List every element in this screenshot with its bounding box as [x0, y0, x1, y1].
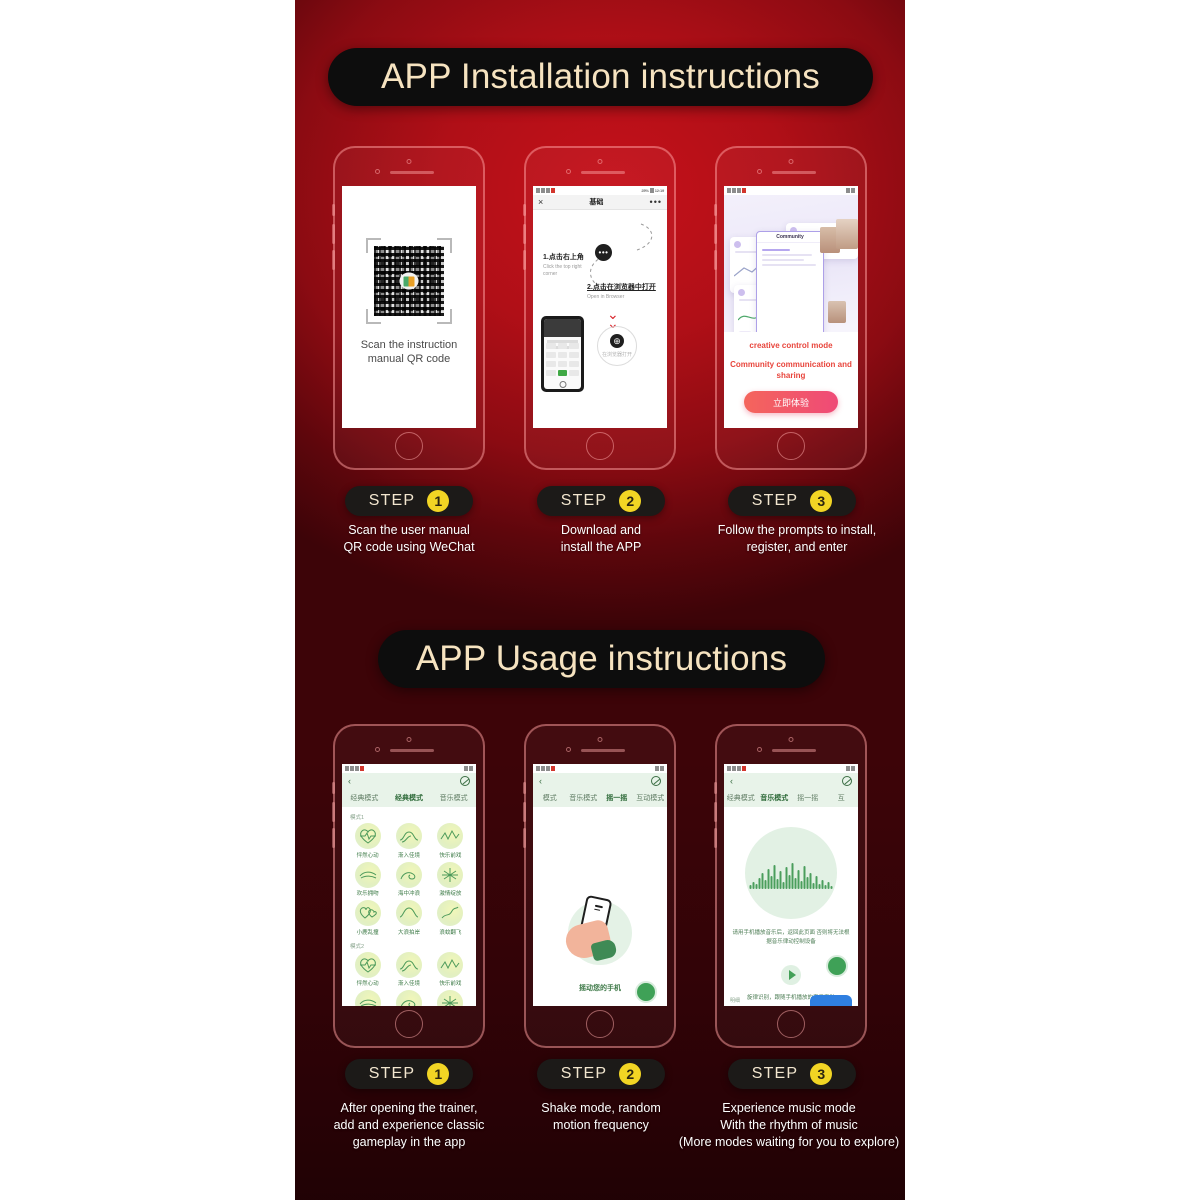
volume-down-icon — [523, 828, 526, 848]
app-navbar: ‹ — [342, 773, 476, 789]
mode-group-1-label: 模式1 — [350, 813, 476, 821]
tutorial-step-2: 2.点击在浏览器中打开 Open in Browser — [587, 282, 656, 300]
tutorial-step-1: 1.点击右上角 Click the top right corner — [543, 252, 591, 278]
mode-group-2-label: 模式2 — [350, 942, 476, 950]
home-button-icon[interactable] — [777, 432, 805, 460]
status-left-icons — [727, 188, 746, 193]
mode-label: 欢乐拥吻 — [347, 889, 388, 897]
music-hint-1: 请用手机播放音乐后，返回此页面 否则将无法根据音乐律动控制设备 — [730, 929, 852, 947]
camera-dot-icon — [598, 159, 603, 164]
open-in-browser-label: 在浏览器打开 — [602, 351, 632, 358]
splash-icon — [437, 900, 463, 926]
step-badge-install-1: STEP 1 — [345, 486, 473, 516]
webview-title: 基础 — [589, 197, 603, 207]
volume-up-icon — [332, 224, 335, 244]
mode-item[interactable]: 大浪拍岸 — [388, 900, 429, 936]
status-right-icons — [655, 766, 664, 771]
detail-label: 明细 — [730, 997, 740, 1004]
volume-down-icon — [332, 250, 335, 270]
step-badge-usage-2: STEP 2 — [537, 1059, 665, 1089]
page-root: APP Installation instructions — [0, 0, 1200, 1200]
step-number: 2 — [619, 490, 641, 512]
step-caption-install-1: Scan the user manual QR code using WeCha… — [309, 522, 509, 556]
volume-down-icon — [714, 828, 717, 848]
step-caption-usage-3: Experience music mode With the rhythm of… — [673, 1100, 905, 1151]
step-badge-install-2: STEP 2 — [537, 486, 665, 516]
sensor-dot-icon — [566, 747, 571, 752]
red-content-panel: APP Installation instructions — [295, 0, 905, 1200]
sensor-dot-icon — [566, 169, 571, 174]
qr-scan-frame — [366, 238, 452, 324]
music-body: 请用手机播放音乐后，返回此页面 否则将无法根据音乐律动控制设备 旋律识别，跟随手… — [724, 807, 858, 1006]
camera-dot-icon — [407, 159, 412, 164]
big-wave-icon — [396, 900, 422, 926]
section-title-usage-text: APP Usage instructions — [390, 639, 813, 679]
mode-tabs: 经典模式 音乐模式 摇一摇 互 — [724, 789, 858, 807]
step-badge-install-3: STEP 3 — [728, 486, 856, 516]
step-caption-usage-1: After opening the trainer, add and exper… — [309, 1100, 509, 1151]
mini-phone-illustration — [541, 316, 584, 392]
promo-tagline-1: creative control mode — [724, 341, 858, 350]
mode-tabs: 模式 音乐模式 摇一摇 互动模式 — [533, 789, 667, 807]
camera-dot-icon — [789, 737, 794, 742]
kiss-icon — [355, 990, 381, 1006]
step-number: 1 — [427, 1063, 449, 1085]
phone-mockup-qr: Scan the instruction manual QR code — [333, 146, 485, 470]
qr-center-logo-icon — [400, 273, 419, 290]
step-number: 3 — [810, 490, 832, 512]
mode-item[interactable]: 小鹿乱撞 — [347, 900, 388, 936]
mode-label: 浪蚊翻飞 — [430, 928, 471, 936]
status-right-icons: 25% 12:19 — [641, 188, 664, 193]
section-title-usage: APP Usage instructions — [378, 630, 825, 688]
settings-gear-icon[interactable] — [651, 776, 661, 786]
step-label: STEP — [369, 1065, 416, 1083]
home-button-icon[interactable] — [395, 1010, 423, 1038]
tutorial-step-1-en: Click the top right corner — [543, 264, 591, 278]
surf-wave-icon — [396, 990, 422, 1006]
bottom-action-button[interactable] — [810, 995, 852, 1006]
section-title-install-text: APP Installation instructions — [355, 57, 846, 97]
tab-partial[interactable]: 模式 — [533, 793, 567, 803]
battery-percent-label: 25% — [641, 188, 648, 193]
step-number: 1 — [427, 490, 449, 512]
mode-item[interactable]: 渐入佳境 — [388, 952, 429, 988]
camera-dot-icon — [789, 159, 794, 164]
speaker-slot-icon — [772, 171, 816, 174]
step-label: STEP — [752, 492, 799, 510]
mode-label: 海中冲浪 — [388, 889, 429, 897]
open-in-browser-illustration: ⊕ 在浏览器打开 — [597, 326, 637, 366]
tab-music[interactable]: 音乐模式 — [758, 793, 792, 803]
step-label: STEP — [561, 492, 608, 510]
mode-item[interactable]: 欢乐拥吻 — [347, 862, 388, 898]
phone-mockup-shake: ‹ 模式 音乐模式 摇一摇 互动模式 — [524, 724, 676, 1048]
volume-down-icon — [714, 250, 717, 270]
back-arrow-icon[interactable]: ‹ — [348, 777, 351, 786]
tab-interactive-partial[interactable]: 互 — [825, 793, 859, 803]
mode-label: 激情绽放 — [430, 889, 471, 897]
speaker-slot-icon — [390, 171, 434, 174]
mode-label: 快乐前戏 — [430, 979, 471, 987]
mode-grid-2: 怦然心动 渐入佳境 快乐前戏 欢乐拥吻 — [342, 952, 476, 1007]
speaker-slot-icon — [581, 749, 625, 752]
phone-screen-music: ‹ 经典模式 音乐模式 摇一摇 互 — [724, 764, 858, 1006]
mode-item[interactable]: 怦然心动 — [347, 952, 388, 988]
status-bar — [533, 764, 667, 773]
mode-item[interactable]: 快乐前戏 — [430, 952, 471, 988]
volume-up-icon — [523, 802, 526, 822]
mute-switch-icon — [332, 204, 335, 216]
status-left-icons — [345, 766, 364, 771]
status-left-icons — [536, 188, 555, 193]
globe-icon: ⊕ — [610, 334, 624, 348]
phone-mockup-wechat: 25% 12:19 × 基础 ••• ••• — [524, 146, 676, 470]
wechat-tutorial-body: ••• 1.点击右上角 Click the top right corner 2… — [533, 210, 667, 428]
mute-switch-icon — [714, 782, 717, 794]
mute-switch-icon — [714, 204, 717, 216]
zigzag-wave-icon — [437, 823, 463, 849]
motion-lines-icon — [594, 905, 603, 914]
phone-screen-promo: Community creative control mode Communit… — [724, 186, 858, 428]
mode-label: 渐入佳境 — [388, 979, 429, 987]
status-left-icons — [536, 766, 555, 771]
status-bar — [724, 764, 858, 773]
status-right-icons — [464, 766, 473, 771]
section-title-install: APP Installation instructions — [328, 48, 873, 106]
heartbeat-icon — [355, 952, 381, 978]
app-navbar: ‹ — [533, 773, 667, 789]
speaker-slot-icon — [772, 749, 816, 752]
community-title: Community — [776, 234, 804, 240]
volume-up-icon — [714, 224, 717, 244]
promo-card-community: Community — [756, 231, 824, 332]
sensor-dot-icon — [757, 747, 762, 752]
phone-mockup-modes: ‹ 经典模式 经典模式 音乐模式 模式1 怦然心动 — [333, 724, 485, 1048]
tab-music[interactable]: 音乐模式 — [431, 793, 476, 803]
mode-label: 大浪拍岸 — [388, 928, 429, 936]
mode-grid-1: 怦然心动 渐入佳境 快乐前戏 欢乐拥吻 — [342, 823, 476, 936]
promo-avatar-photo-2 — [836, 219, 858, 249]
volume-up-icon — [332, 802, 335, 822]
wechat-menu-button-illustration: ••• — [595, 244, 612, 261]
speaker-slot-icon — [390, 749, 434, 752]
volume-up-icon — [714, 802, 717, 822]
phone-screen-shake: ‹ 模式 音乐模式 摇一摇 互动模式 — [533, 764, 667, 1006]
home-button-icon[interactable] — [777, 1010, 805, 1038]
tab-shake[interactable]: 摇一摇 — [791, 793, 825, 803]
settings-gear-icon[interactable] — [460, 776, 470, 786]
step-caption-install-3: Follow the prompts to install, register,… — [691, 522, 903, 556]
mode-item[interactable]: 海中冲浪 — [388, 990, 429, 1006]
burst-icon — [437, 990, 463, 1006]
mode-item[interactable]: 激情绽放 — [430, 990, 471, 1006]
mode-item[interactable]: 怦然心动 — [347, 823, 388, 859]
speaker-slot-icon — [581, 171, 625, 174]
sensor-dot-icon — [375, 747, 380, 752]
sensor-dot-icon — [375, 169, 380, 174]
mode-list-body: 模式1 怦然心动 渐入佳境 快乐前戏 — [342, 807, 476, 1006]
app-navbar: ‹ — [724, 773, 858, 789]
zigzag-wave-icon — [437, 952, 463, 978]
mute-switch-icon — [523, 204, 526, 216]
promo-copy-block: creative control mode Community communic… — [724, 332, 858, 428]
back-arrow-icon[interactable]: ‹ — [539, 777, 542, 786]
tab-classic[interactable]: 经典模式 — [724, 793, 758, 803]
tab-interactive[interactable]: 互动模式 — [634, 793, 668, 803]
mode-item[interactable]: 海中冲浪 — [388, 862, 429, 898]
phone-mockup-music: ‹ 经典模式 音乐模式 摇一摇 互 — [715, 724, 867, 1048]
home-button-icon[interactable] — [395, 432, 423, 460]
power-toggle-button[interactable] — [826, 955, 848, 977]
status-left-icons — [727, 766, 746, 771]
tab-classic-1[interactable]: 经典模式 — [342, 793, 387, 803]
mode-item[interactable]: 欢乐拥吻 — [347, 990, 388, 1006]
mode-item[interactable]: 渐入佳境 — [388, 823, 429, 859]
burst-icon — [437, 862, 463, 888]
tutorial-step-1-cn: 1.点击右上角 — [543, 252, 591, 262]
audio-waveform-icon — [750, 863, 833, 889]
tab-shake[interactable]: 摇一摇 — [600, 793, 634, 803]
shake-illustration — [552, 893, 648, 965]
step-label: STEP — [561, 1065, 608, 1083]
camera-dot-icon — [407, 737, 412, 742]
tab-music[interactable]: 音乐模式 — [567, 793, 601, 803]
volume-down-icon — [523, 250, 526, 270]
promo-tagline-2: Community communication and sharing — [724, 359, 858, 381]
power-toggle-button[interactable] — [635, 981, 657, 1003]
volume-down-icon — [332, 828, 335, 848]
camera-dot-icon — [598, 737, 603, 742]
step-number: 2 — [619, 1063, 641, 1085]
mode-label: 怦然心动 — [347, 851, 388, 859]
tab-classic-2[interactable]: 经典模式 — [387, 793, 432, 803]
mode-label: 快乐前戏 — [430, 851, 471, 859]
status-right-icons — [846, 766, 855, 771]
step-badge-usage-1: STEP 1 — [345, 1059, 473, 1089]
mode-item[interactable]: 激情绽放 — [430, 862, 471, 898]
phone-screen-wechat: 25% 12:19 × 基础 ••• ••• — [533, 186, 667, 428]
mode-label: 小鹿乱撞 — [347, 928, 388, 936]
step-caption-install-2: Download and install the APP — [501, 522, 701, 556]
mode-item[interactable]: 快乐前戏 — [430, 823, 471, 859]
mode-tabs: 经典模式 经典模式 音乐模式 — [342, 789, 476, 807]
sensor-dot-icon — [757, 169, 762, 174]
status-bar — [342, 764, 476, 773]
volume-up-icon — [523, 224, 526, 244]
phone-screen-qr: Scan the instruction manual QR code — [342, 186, 476, 428]
wechat-webview-header: × 基础 ••• — [533, 195, 667, 210]
play-button[interactable] — [781, 965, 801, 985]
tutorial-step-2-en: Open in Browser — [587, 294, 656, 300]
qr-caption: Scan the instruction manual QR code — [342, 338, 476, 366]
mute-switch-icon — [523, 782, 526, 794]
surf-wave-icon — [396, 862, 422, 888]
step-number: 3 — [810, 1063, 832, 1085]
status-bar — [724, 186, 858, 195]
try-now-button[interactable]: 立即体验 — [744, 391, 838, 413]
shake-body: 摇动您的手机 — [533, 807, 667, 1006]
wave-rising-icon — [396, 823, 422, 849]
step-caption-usage-2: Shake mode, random motion frequency — [501, 1100, 701, 1134]
phone-screen-modes: ‹ 经典模式 经典模式 音乐模式 模式1 怦然心动 — [342, 764, 476, 1006]
more-menu-icon[interactable]: ••• — [650, 198, 662, 207]
status-bar: 25% 12:19 — [533, 186, 667, 195]
mode-label: 怦然心动 — [347, 979, 388, 987]
clock-label: 12:19 — [655, 188, 664, 193]
step-label: STEP — [752, 1065, 799, 1083]
mute-switch-icon — [332, 782, 335, 794]
promo-illustration: Community — [724, 195, 858, 332]
tutorial-step-2-cn: 2.点击在浏览器中打开 — [587, 282, 656, 292]
back-arrow-icon[interactable]: ‹ — [730, 777, 733, 786]
kiss-icon — [355, 862, 381, 888]
heartbeat-icon — [355, 823, 381, 849]
phone-mockup-promo: Community creative control mode Communit… — [715, 146, 867, 470]
mode-item[interactable]: 浪蚊翻飞 — [430, 900, 471, 936]
step-label: STEP — [369, 492, 416, 510]
close-icon[interactable]: × — [538, 198, 543, 207]
double-heart-icon — [355, 900, 381, 926]
home-button-icon[interactable] — [586, 432, 614, 460]
step-badge-usage-3: STEP 3 — [728, 1059, 856, 1089]
wave-rising-icon — [396, 952, 422, 978]
qr-code-image[interactable] — [374, 246, 444, 316]
home-button-icon[interactable] — [586, 1010, 614, 1038]
promo-avatar-photo-3 — [828, 301, 846, 323]
status-right-icons — [846, 188, 855, 193]
mode-label: 渐入佳境 — [388, 851, 429, 859]
settings-gear-icon[interactable] — [842, 776, 852, 786]
